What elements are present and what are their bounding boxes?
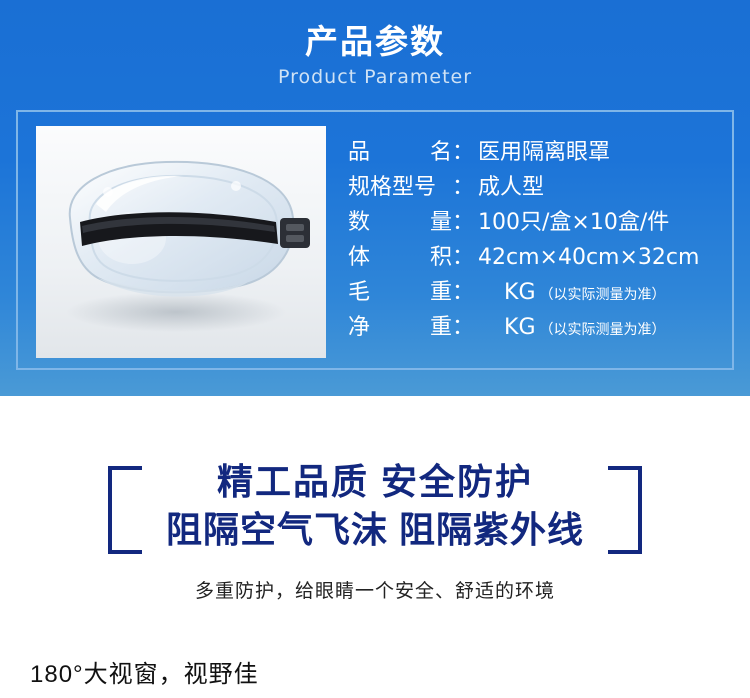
goggles-illustration: [36, 126, 326, 358]
parameter-value: 成人型: [478, 169, 544, 201]
parameter-colon: ：: [452, 169, 474, 201]
parameter-label-a: 规格型号: [348, 169, 436, 201]
parameter-row: 净 重 ： KG （以实际测量为准）: [348, 309, 728, 344]
parameter-row: 品 名 ： 医用隔离眼罩: [348, 134, 728, 169]
parameter-label: 规格型号: [348, 169, 452, 201]
promo-headline-area: 精工品质 安全防护 阻隔空气飞沫 阻隔紫外线: [142, 458, 608, 554]
parameter-label-a: 毛: [348, 274, 370, 306]
parameter-label: 体 积: [348, 239, 452, 271]
promo-headline-line1: 精工品质 安全防护: [142, 458, 608, 506]
top-blue-panel: 产品参数 Product Parameter: [0, 0, 750, 396]
parameter-label: 毛 重: [348, 274, 452, 306]
parameter-colon: ：: [452, 204, 474, 236]
parameter-label: 数 量: [348, 204, 452, 236]
parameter-colon: ：: [452, 239, 474, 271]
page-title-cn: 产品参数: [0, 22, 750, 62]
parameter-label-a: 净: [348, 309, 370, 341]
parameter-note: （以实际测量为准）: [540, 284, 666, 304]
parameter-note: （以实际测量为准）: [540, 319, 666, 339]
parameter-label: 净 重: [348, 309, 452, 341]
parameter-label: 品 名: [348, 134, 452, 166]
parameter-label-a: 品: [348, 134, 370, 166]
header-block: 产品参数 Product Parameter: [0, 22, 750, 90]
parameter-colon: ：: [452, 309, 474, 341]
parameter-label-b: 重: [430, 309, 452, 341]
parameter-colon: ：: [452, 274, 474, 306]
parameter-label-b: 积: [430, 239, 452, 271]
parameter-row: 数 量 ： 100只/盒×10盒/件: [348, 204, 728, 239]
bracket-right-decoration: [608, 466, 642, 554]
promo-bottom-text: 180°大视窗，视野佳: [30, 654, 259, 689]
parameter-label-b: 名: [430, 134, 452, 166]
parameter-value: 100只/盒×10盒/件: [478, 204, 669, 236]
parameter-label-b: 重: [430, 274, 452, 306]
product-parameter-page: 产品参数 Product Parameter: [0, 0, 750, 698]
promo-subline: 多重防护，给眼睛一个安全、舒适的环境: [0, 576, 750, 603]
parameter-card: 品 名 ： 医用隔离眼罩 规格型号 ： 成人型 数: [16, 110, 734, 370]
bracket-left-decoration: [108, 466, 142, 554]
parameter-list: 品 名 ： 医用隔离眼罩 规格型号 ： 成人型 数: [348, 134, 728, 344]
promo-headline-line2: 阻隔空气飞沫 阻隔紫外线: [142, 506, 608, 554]
parameter-value: KG: [504, 280, 535, 305]
promo-block: 精工品质 安全防护 阻隔空气飞沫 阻隔紫外线 多重防护，给眼睛一个安全、舒适的环…: [0, 458, 750, 603]
parameter-row: 规格型号 ： 成人型: [348, 169, 728, 204]
parameter-label-b: 量: [430, 204, 452, 236]
lower-white-section: 精工品质 安全防护 阻隔空气飞沫 阻隔紫外线 多重防护，给眼睛一个安全、舒适的环…: [0, 396, 750, 698]
parameter-colon: ：: [452, 134, 474, 166]
parameter-label-a: 数: [348, 204, 370, 236]
page-title-en: Product Parameter: [0, 64, 750, 90]
parameter-value: 医用隔离眼罩: [478, 134, 610, 166]
parameter-row: 体 积 ： 42cm×40cm×32cm: [348, 239, 728, 274]
parameter-label-a: 体: [348, 239, 370, 271]
parameter-row: 毛 重 ： KG （以实际测量为准）: [348, 274, 728, 309]
parameter-value: 42cm×40cm×32cm: [478, 245, 699, 270]
parameter-value: KG: [504, 315, 535, 340]
product-photo: [36, 126, 326, 358]
